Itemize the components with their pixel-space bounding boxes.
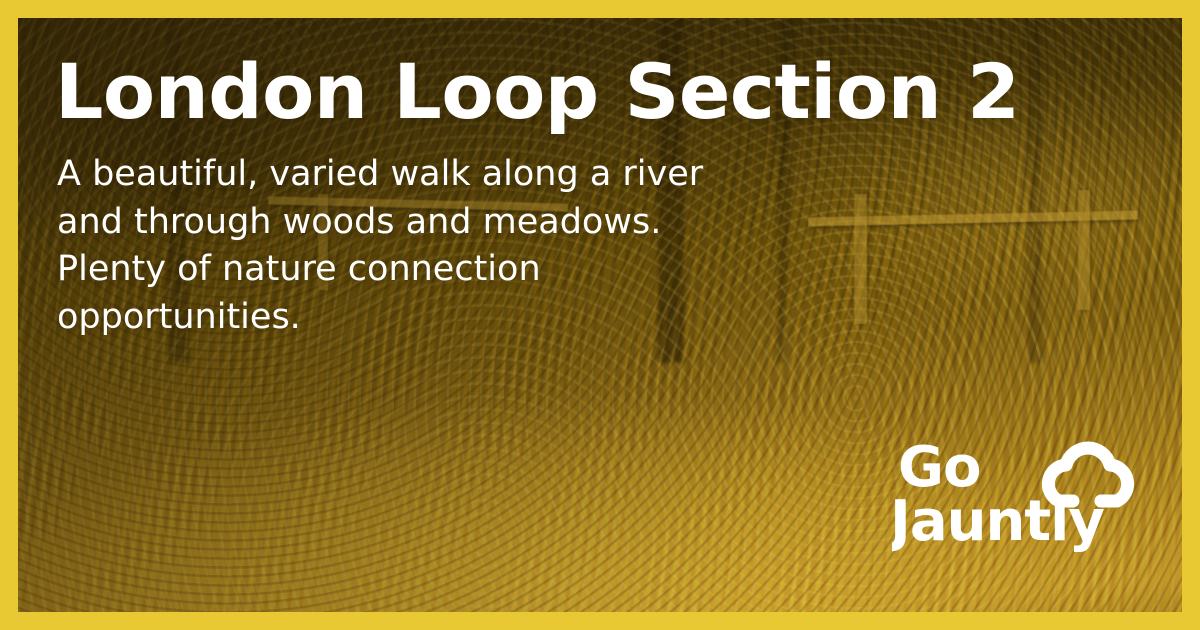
description-line: opportunities. bbox=[57, 294, 1160, 342]
page-title: London Loop Section 2 bbox=[55, 52, 1160, 131]
social-share-card: London Loop Section 2 A beautiful, varie… bbox=[0, 0, 1200, 630]
description-line: Plenty of nature connection bbox=[57, 246, 1160, 294]
go-jauntly-logo: Go Jauntly bbox=[892, 428, 1142, 568]
description-line: A beautiful, varied walk along a river bbox=[57, 151, 1160, 199]
card-content: London Loop Section 2 A beautiful, varie… bbox=[55, 52, 1160, 341]
description-line: and through woods and meadows. bbox=[57, 199, 1160, 247]
card-description: A beautiful, varied walk along a river a… bbox=[57, 151, 1160, 341]
brand-name-line-2: Jauntly bbox=[892, 489, 1104, 554]
